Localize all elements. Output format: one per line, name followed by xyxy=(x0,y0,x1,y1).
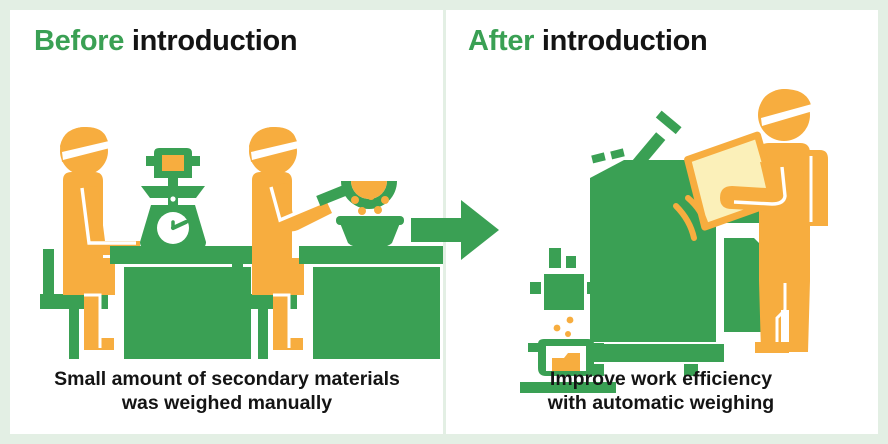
bowl-icon xyxy=(336,216,404,247)
worker-3-head-icon xyxy=(758,89,813,141)
worker-3-hips-icon xyxy=(759,254,810,281)
panel-after: After introduction xyxy=(444,10,878,434)
transition-arrow xyxy=(405,195,505,265)
panel-after-caption-line2: with automatic weighing xyxy=(444,391,878,416)
scoop-icon xyxy=(316,181,397,209)
panel-before-caption: Small amount of secondary materials was … xyxy=(10,367,444,416)
kitchen-scale-icon xyxy=(140,148,206,249)
panel-container: Before introduction xyxy=(10,10,878,434)
panel-before-caption-line2: was weighed manually xyxy=(10,391,444,416)
panel-before: Before introduction xyxy=(10,10,444,434)
panel-before-caption-line1: Small amount of secondary materials xyxy=(10,367,444,392)
arrow-right-icon xyxy=(411,200,499,260)
panel-after-caption: Improve work efficiency with automatic w… xyxy=(444,367,878,416)
machine-side-door-icon xyxy=(724,238,764,332)
panel-after-caption-line1: Improve work efficiency xyxy=(444,367,878,392)
infographic-root: Before introduction xyxy=(0,0,888,444)
worker-1-head-icon xyxy=(60,127,110,175)
steam-dots-icon xyxy=(554,317,574,337)
worker-3-foot-left-icon xyxy=(755,342,789,353)
worker-2-head-icon xyxy=(249,127,299,175)
